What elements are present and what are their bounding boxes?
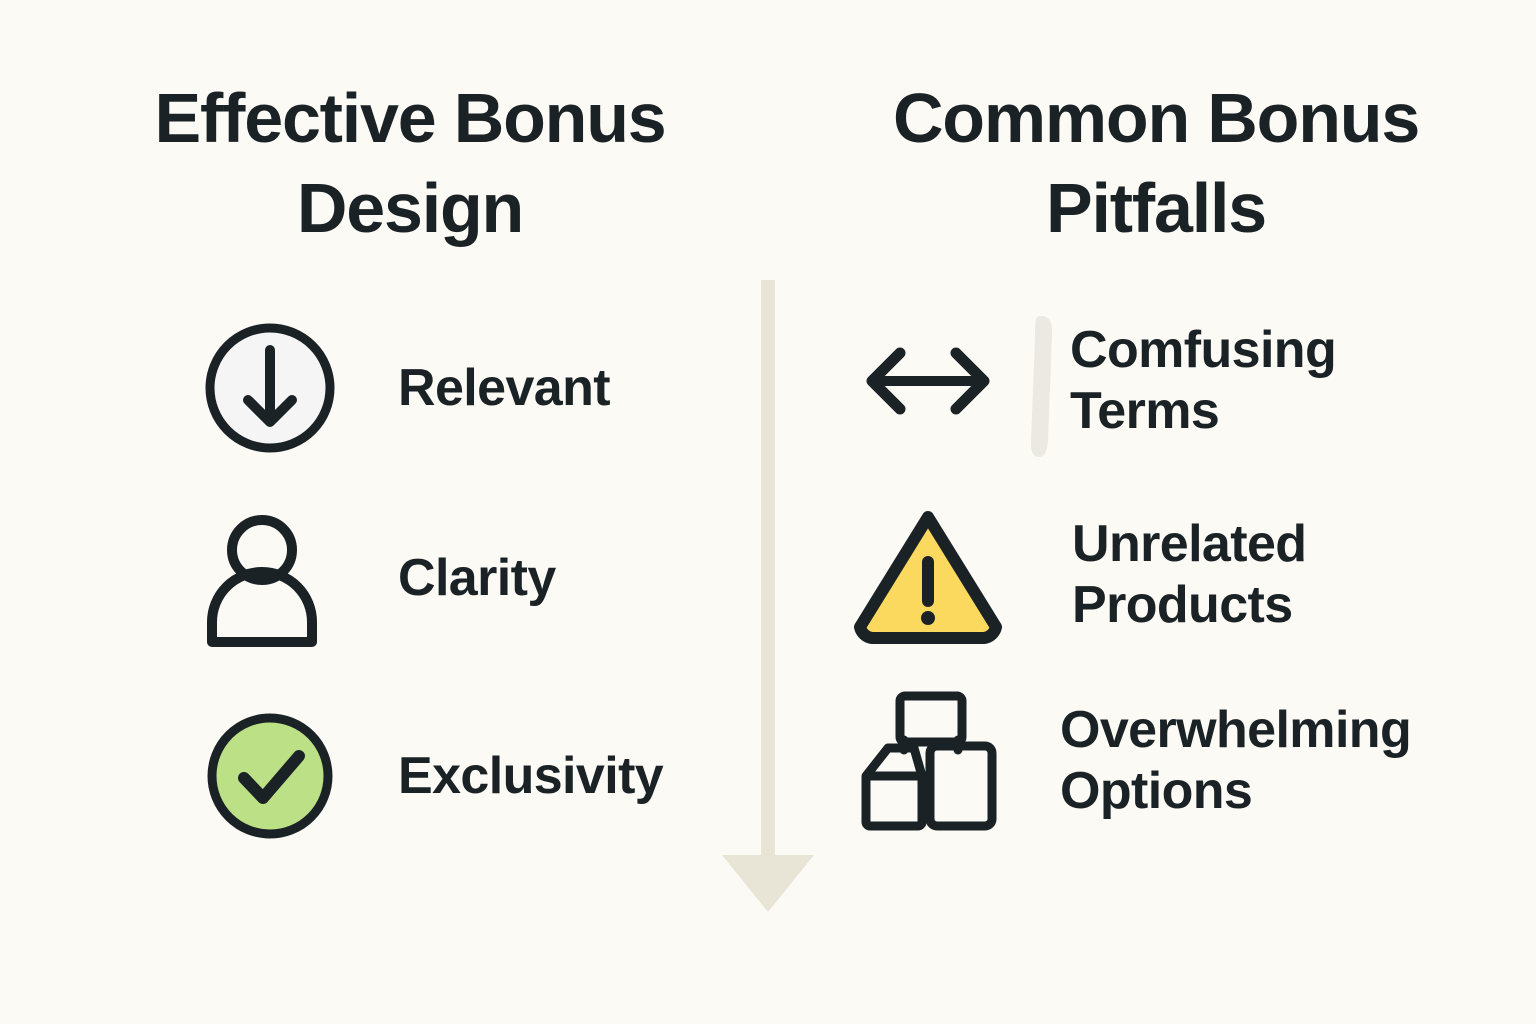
left-right-arrow-icon <box>858 341 998 421</box>
list-item-label-clarity: Clarity <box>398 548 556 609</box>
effective-bonus-design-panel: Effective Bonus Design Relevant Clarity <box>0 0 760 1024</box>
list-item-confusing-terms: Comfusing Terms <box>858 320 1336 442</box>
circle-down-arrow-icon <box>200 318 340 458</box>
list-item-label-confusing-terms: Comfusing Terms <box>1070 320 1336 442</box>
right-panel-title: Common Bonus Pitfalls <box>796 74 1516 253</box>
list-item-overwhelming-options: Overwhelming Options <box>858 688 1411 833</box>
warning-triangle-icon <box>848 505 1008 645</box>
boxes-icon <box>858 688 1008 833</box>
list-item-unrelated-products: Unrelated Products <box>848 505 1306 645</box>
person-icon <box>200 508 340 648</box>
list-item-label-overwhelming-options: Overwhelming Options <box>1060 700 1411 822</box>
list-item-relevant: Relevant <box>200 318 610 458</box>
infographic-canvas: Effective Bonus Design Relevant Clarity <box>0 0 1536 1024</box>
list-item-clarity: Clarity <box>200 508 556 648</box>
list-item-label-exclusivity: Exclusivity <box>398 746 663 807</box>
list-item-label-relevant: Relevant <box>398 358 610 419</box>
check-circle-icon <box>200 706 340 846</box>
list-item-exclusivity: Exclusivity <box>200 706 663 846</box>
list-item-label-unrelated-products: Unrelated Products <box>1072 514 1306 636</box>
left-panel-title: Effective Bonus Design <box>60 74 760 253</box>
